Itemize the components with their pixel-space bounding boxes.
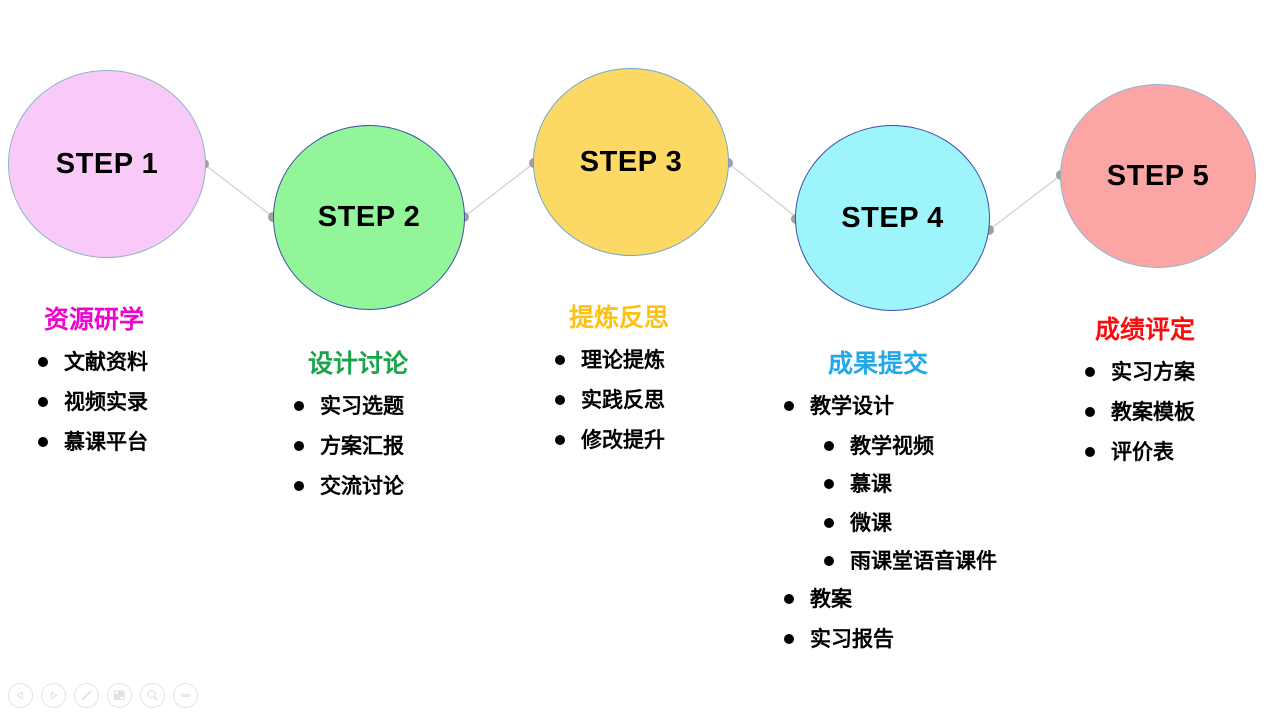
step-5-text-block: 成绩评定 实习方案 教案模板 评价表	[1085, 310, 1195, 481]
bullet-dot-icon	[784, 594, 794, 604]
list-item: 教案	[784, 587, 997, 612]
bullet-dot-icon	[824, 441, 834, 451]
list-item: 慕课平台	[38, 430, 148, 455]
step-3-title: 提炼反思	[555, 298, 669, 334]
list-item-label: 交流讨论	[320, 474, 404, 499]
step-circle-1[interactable]: STEP 1	[8, 70, 206, 258]
list-item-label: 视频实录	[64, 390, 148, 415]
slide-overview-icon	[112, 688, 127, 703]
step-2-title: 设计讨论	[294, 344, 408, 380]
step-2-label: STEP 2	[318, 201, 420, 234]
list-item: 微课	[824, 511, 997, 536]
bullet-dot-icon	[38, 397, 48, 407]
step-1-label: STEP 1	[56, 148, 158, 181]
step-4-bullet-list: 教学设计 教学视频 慕课 微课	[784, 394, 997, 652]
bullet-dot-icon	[555, 395, 565, 405]
list-item-label: 评价表	[1111, 440, 1174, 465]
more-options-button[interactable]	[173, 683, 198, 708]
slideshow-toolbar	[8, 683, 198, 708]
zoom-icon	[145, 688, 160, 703]
list-item: 慕课	[824, 472, 997, 497]
bullet-dot-icon	[555, 355, 565, 365]
step-3-bullet-list: 理论提炼 实践反思 修改提升	[555, 348, 669, 454]
bullet-dot-icon	[784, 634, 794, 644]
bullet-dot-icon	[784, 401, 794, 411]
bullet-dot-icon	[824, 556, 834, 566]
bullet-dot-icon	[555, 435, 565, 445]
bullet-dot-icon	[824, 518, 834, 528]
step-5-bullet-list: 实习方案 教案模板 评价表	[1085, 360, 1195, 466]
step-1-bullet-list: 文献资料 视频实录 慕课平台	[38, 350, 148, 456]
step-1-title: 资源研学	[38, 300, 148, 336]
list-item-label: 文献资料	[64, 350, 148, 375]
list-item-label: 教学设计	[810, 394, 894, 419]
more-options-icon	[178, 688, 193, 703]
step-circle-5[interactable]: STEP 5	[1060, 84, 1256, 268]
list-item-label: 慕课平台	[64, 430, 148, 455]
list-item: 教学视频	[824, 434, 997, 459]
previous-slide-icon	[14, 689, 27, 702]
list-item: 实习选题	[294, 394, 408, 419]
list-item-label: 实习方案	[1111, 360, 1195, 385]
step-4-text-block: 成果提交 教学设计 教学视频 慕课	[784, 344, 997, 667]
step-5-title: 成绩评定	[1085, 310, 1195, 346]
list-item-label: 实践反思	[581, 388, 665, 413]
list-item: 文献资料	[38, 350, 148, 375]
list-item: 修改提升	[555, 428, 669, 453]
bullet-dot-icon	[824, 479, 834, 489]
list-item: 实习方案	[1085, 360, 1195, 385]
list-item-label: 实习选题	[320, 394, 404, 419]
next-slide-button[interactable]	[41, 683, 66, 708]
previous-slide-button[interactable]	[8, 683, 33, 708]
step-4-sub-bullet-list: 教学视频 慕课 微课 雨课堂语音课件	[784, 434, 997, 574]
list-item: 实习报告	[784, 627, 997, 652]
list-item: 雨课堂语音课件	[824, 549, 997, 574]
list-item-label: 理论提炼	[581, 348, 665, 373]
pen-icon	[79, 688, 94, 703]
bullet-dot-icon	[294, 481, 304, 491]
pen-button[interactable]	[74, 683, 99, 708]
nested-list-container: 教学视频 慕课 微课 雨课堂语音课件	[784, 434, 997, 574]
step-circle-2[interactable]: STEP 2	[273, 125, 465, 310]
bullet-dot-icon	[294, 441, 304, 451]
list-item-label: 修改提升	[581, 428, 665, 453]
next-slide-icon	[47, 689, 60, 702]
list-item-label: 雨课堂语音课件	[850, 549, 997, 574]
list-item: 交流讨论	[294, 474, 408, 499]
list-item: 教案模板	[1085, 400, 1195, 425]
list-item-label: 教案	[810, 587, 852, 612]
bullet-dot-icon	[1085, 407, 1095, 417]
step-5-label: STEP 5	[1107, 160, 1209, 193]
slide-overview-button[interactable]	[107, 683, 132, 708]
bullet-dot-icon	[1085, 447, 1095, 457]
step-4-title: 成果提交	[784, 344, 997, 380]
list-item-label: 方案汇报	[320, 434, 404, 459]
list-item: 评价表	[1085, 440, 1195, 465]
bullet-dot-icon	[38, 357, 48, 367]
list-item-label: 实习报告	[810, 627, 894, 652]
step-1-text-block: 资源研学 文献资料 视频实录 慕课平台	[38, 300, 148, 471]
step-circle-3[interactable]: STEP 3	[533, 68, 729, 256]
step-3-text-block: 提炼反思 理论提炼 实践反思 修改提升	[555, 298, 669, 469]
presentation-slide: STEP 1 STEP 2 STEP 3 STEP 4 STEP 5 资源研学 …	[0, 0, 1269, 714]
list-item-label: 慕课	[850, 472, 892, 497]
step-4-label: STEP 4	[841, 202, 943, 235]
step-2-bullet-list: 实习选题 方案汇报 交流讨论	[294, 394, 408, 500]
bullet-dot-icon	[1085, 367, 1095, 377]
zoom-button[interactable]	[140, 683, 165, 708]
list-item: 视频实录	[38, 390, 148, 415]
list-item: 实践反思	[555, 388, 669, 413]
list-item: 理论提炼	[555, 348, 669, 373]
step-2-text-block: 设计讨论 实习选题 方案汇报 交流讨论	[294, 344, 408, 515]
list-item: 方案汇报	[294, 434, 408, 459]
list-item: 教学设计	[784, 394, 997, 419]
bullet-dot-icon	[38, 437, 48, 447]
list-item-label: 教案模板	[1111, 400, 1195, 425]
step-circle-4[interactable]: STEP 4	[795, 125, 990, 311]
list-item-label: 微课	[850, 511, 892, 536]
bullet-dot-icon	[294, 401, 304, 411]
step-3-label: STEP 3	[580, 146, 682, 179]
list-item-label: 教学视频	[850, 434, 934, 459]
